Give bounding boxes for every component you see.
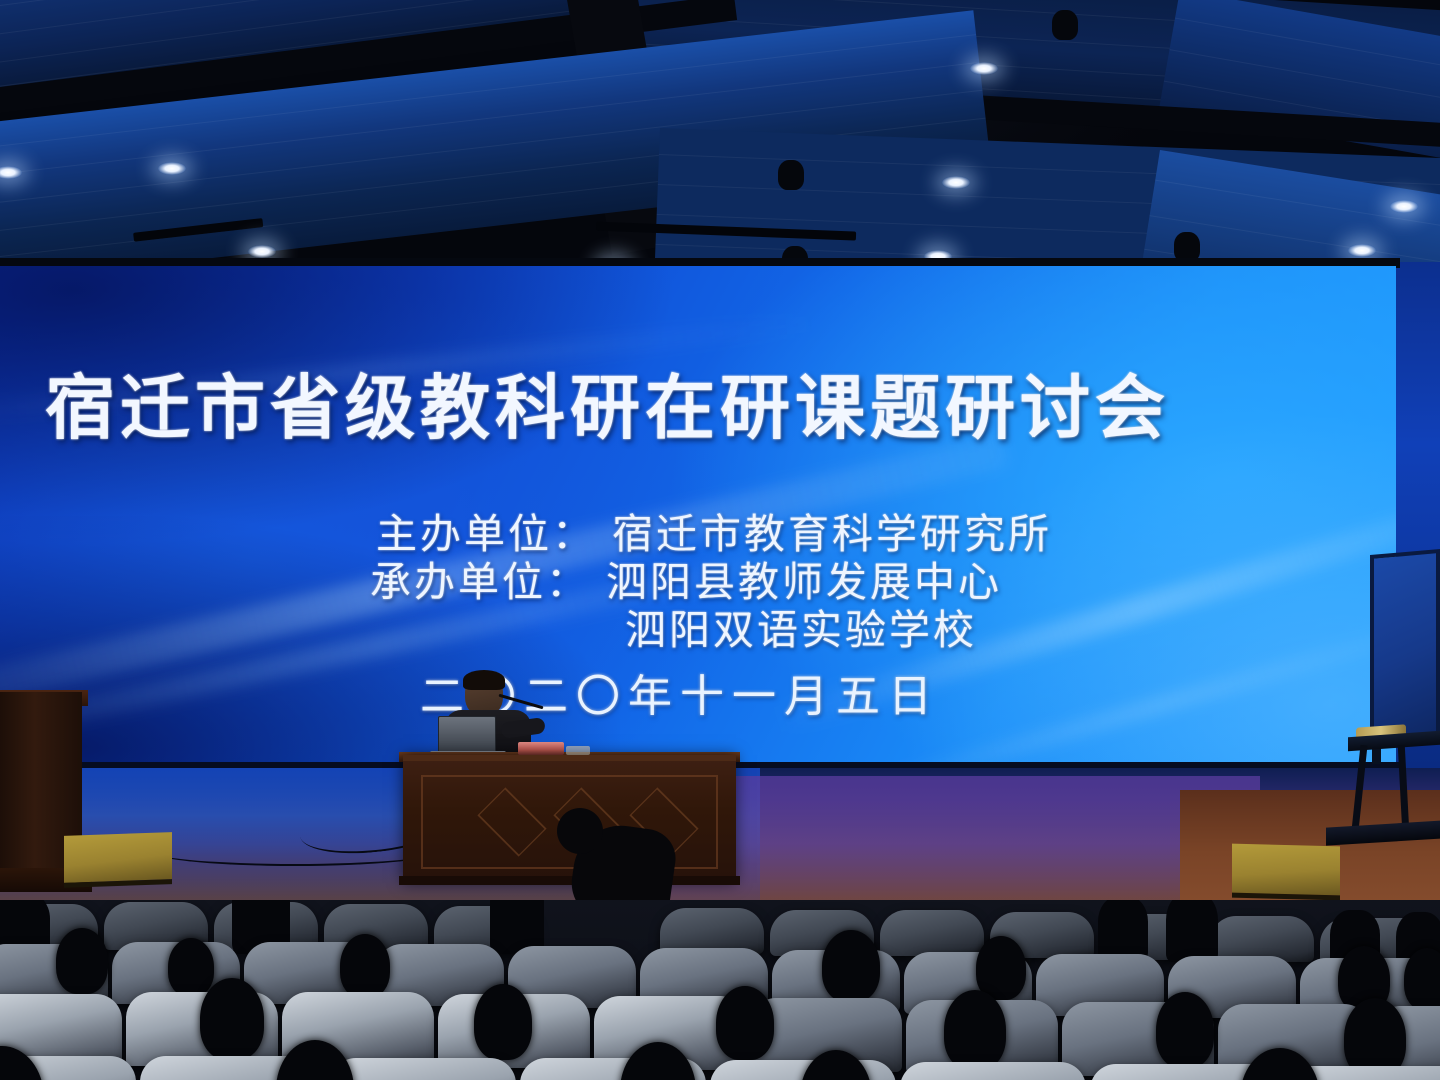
- audience-head: [944, 990, 1006, 1070]
- audience-head: [1404, 948, 1440, 1010]
- standing-person: [1098, 900, 1148, 960]
- ceiling-downlight: [970, 62, 998, 75]
- ceiling-downlight: [942, 176, 970, 189]
- audience-head: [976, 936, 1026, 1000]
- stage-monitor-speaker-left: [64, 832, 172, 888]
- audience-seating: [0, 900, 1440, 1080]
- audience-head: [474, 984, 532, 1060]
- ceiling-downlight: [1390, 200, 1418, 213]
- auditorium-photo: 宿迁市省级教科研在研课题研讨会 主办单位： 宿迁市教育科学研究所 承办单位： 泗…: [0, 0, 1440, 1080]
- bending-person-head: [557, 808, 603, 854]
- laptop-screen: [438, 716, 496, 753]
- ceiling: [0, 0, 1440, 278]
- screen-date-line: 二〇二〇年十一月五日: [0, 660, 1396, 724]
- standing-person: [1166, 900, 1218, 962]
- stage-monitor-speaker-right: [1232, 844, 1340, 901]
- seat: [900, 1062, 1086, 1080]
- audience-head: [822, 930, 880, 1002]
- portable-monitor: [1370, 549, 1440, 745]
- seat: [330, 1058, 516, 1080]
- audience-head: [168, 938, 214, 996]
- audience-head: [716, 986, 774, 1060]
- ceiling-downlight: [158, 162, 186, 175]
- screen-subtitle-line-3: 泗阳双语实验学校: [0, 596, 1396, 656]
- ceiling-downlight: [248, 245, 276, 258]
- audience-head: [200, 978, 264, 1060]
- desk-diamond-ornament: [477, 787, 546, 856]
- screen-title: 宿迁市省级教科研在研课题研讨会: [45, 352, 1385, 453]
- red-box-on-desk: [518, 742, 564, 755]
- hanging-speaker-icon: [1052, 10, 1078, 40]
- audience-head: [1156, 992, 1214, 1068]
- audience-head: [340, 934, 390, 998]
- hanging-speaker-icon: [778, 160, 804, 190]
- audience-head: [56, 928, 108, 994]
- seat: [880, 910, 984, 956]
- papers-on-desk: [566, 746, 590, 755]
- ceiling-downlight: [1348, 244, 1376, 257]
- speaker-hair: [463, 670, 505, 690]
